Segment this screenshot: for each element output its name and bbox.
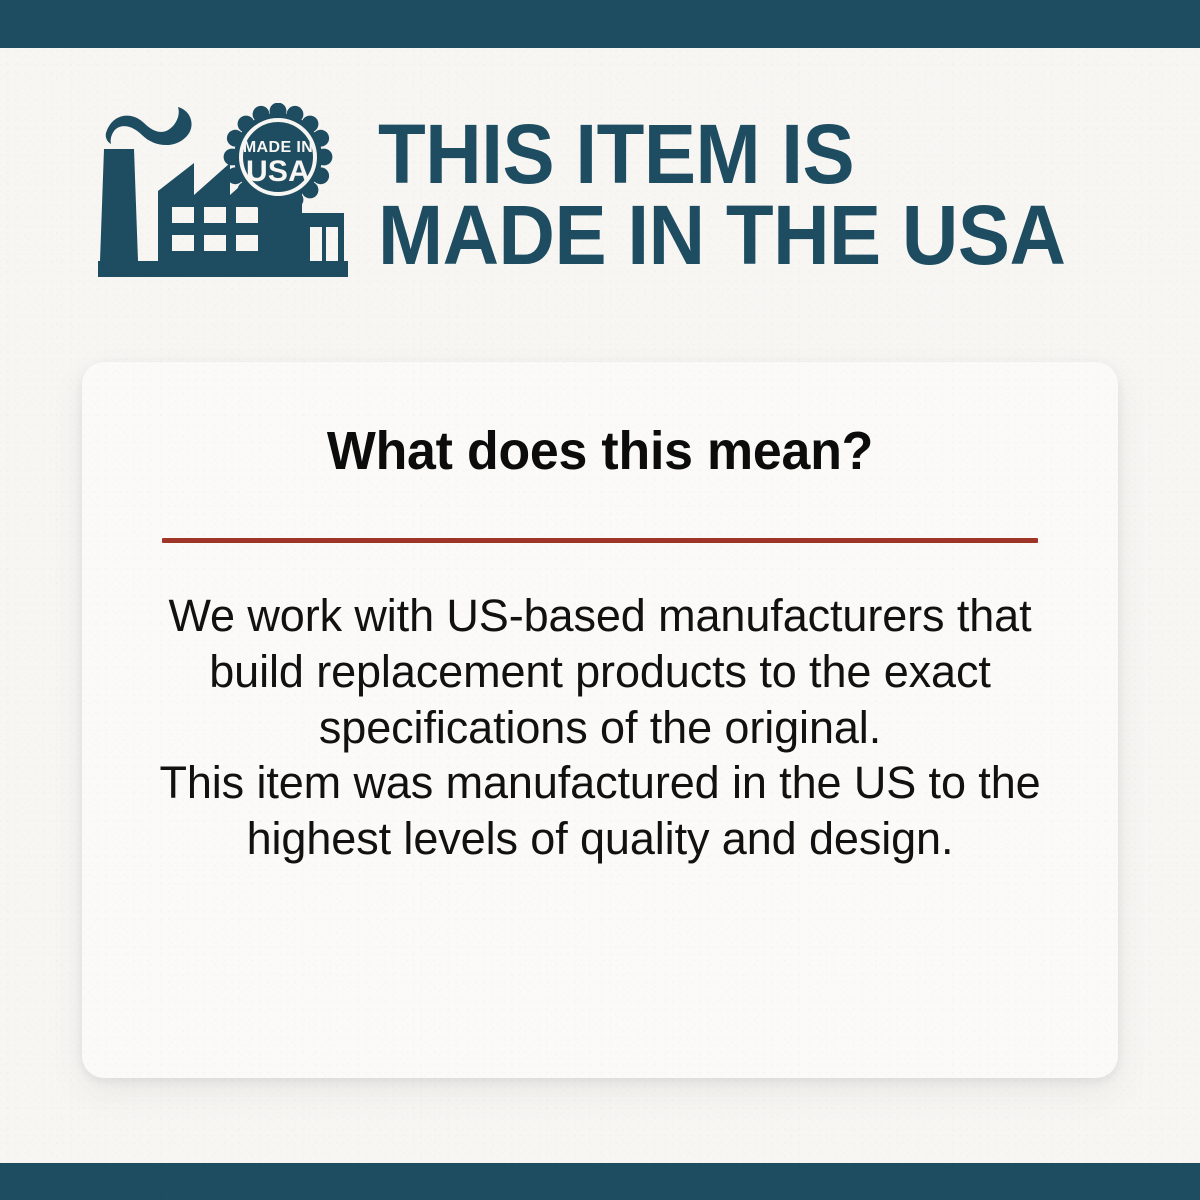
header: MADE IN USA THIS ITEM IS MADE IN THE USA <box>0 95 1200 295</box>
info-card: What does this mean? We work with US-bas… <box>82 362 1118 1078</box>
factory-logo: MADE IN USA <box>98 103 348 288</box>
card-body: We work with US-based manufacturers that… <box>140 588 1060 867</box>
svg-text:USA: USA <box>246 155 310 188</box>
card-paragraph-2: This item was manufactured in the US to … <box>140 755 1060 867</box>
page-headline: THIS ITEM IS MADE IN THE USA <box>378 114 1065 275</box>
card-divider <box>162 538 1038 543</box>
made-in-usa-badge-icon: MADE IN USA <box>224 103 333 211</box>
top-band <box>0 0 1200 48</box>
card-heading: What does this mean? <box>103 424 1098 478</box>
svg-text:MADE IN: MADE IN <box>243 139 313 156</box>
page-root: MADE IN USA THIS ITEM IS MADE IN THE USA… <box>0 0 1200 1200</box>
card-paragraph-1: We work with US-based manufacturers that… <box>140 588 1060 755</box>
headline-line-1: THIS ITEM IS <box>378 114 1065 195</box>
bottom-band <box>0 1163 1200 1200</box>
headline-line-2: MADE IN THE USA <box>378 195 1065 276</box>
